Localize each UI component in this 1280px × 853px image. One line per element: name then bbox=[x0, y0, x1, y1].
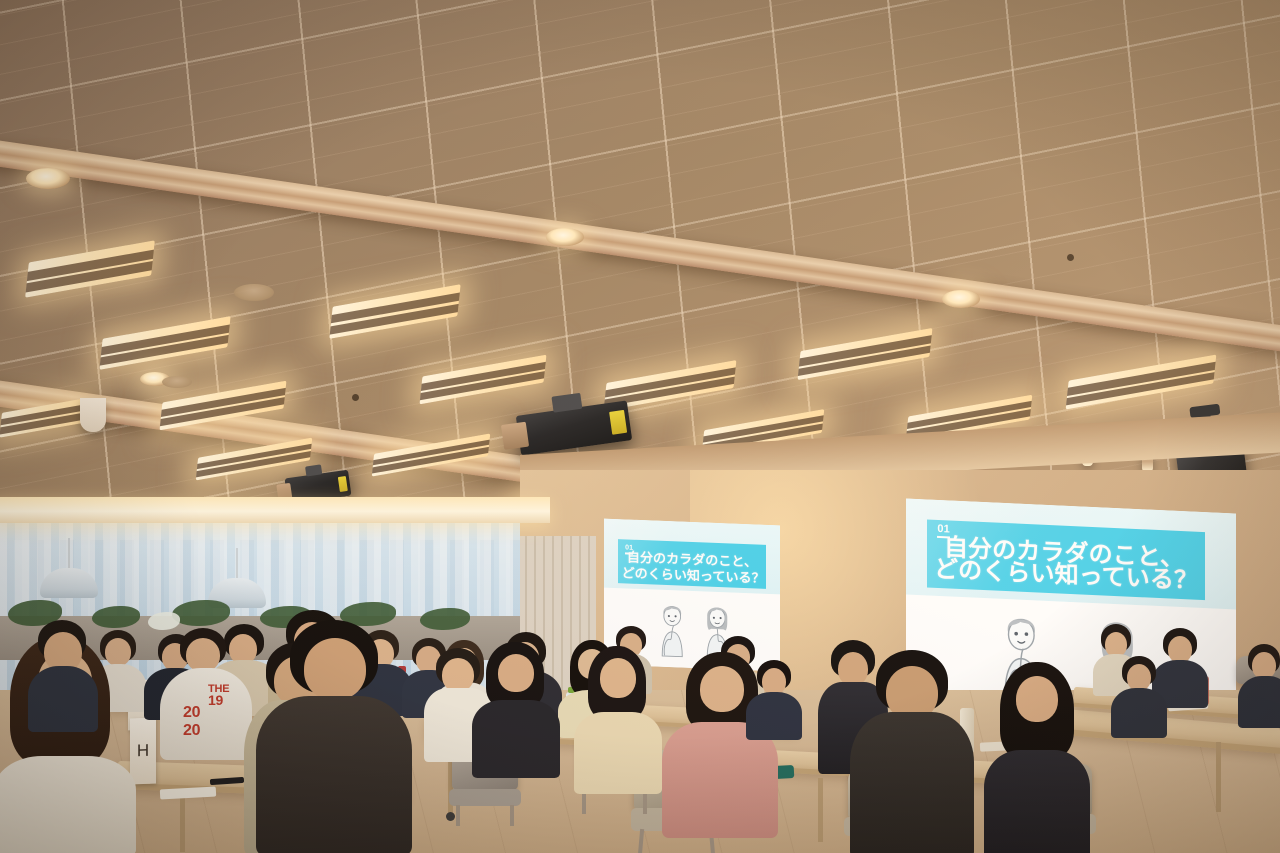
audience-member bbox=[988, 662, 1084, 853]
ceiling-vent bbox=[162, 376, 192, 388]
table-leg bbox=[818, 778, 823, 842]
audience-member bbox=[856, 650, 968, 853]
audience-member bbox=[256, 620, 412, 853]
audience-member bbox=[752, 660, 796, 736]
audience-member bbox=[478, 642, 552, 774]
slide-illustration-left-figure bbox=[652, 596, 692, 659]
audience-member bbox=[1158, 628, 1202, 704]
audience-member-graphic-tee bbox=[160, 628, 252, 758]
pendant-lamp bbox=[40, 568, 98, 598]
tee-text-line-2: 19 bbox=[208, 694, 223, 707]
ceiling-downlight bbox=[26, 168, 70, 189]
ceiling-downlight bbox=[546, 228, 584, 246]
seminar-room-photo: 01 自分のカラダのこと、 どのくらい知っている？ bbox=[0, 0, 1280, 853]
tee-text-line-3: 20 bbox=[183, 706, 200, 721]
audience-member bbox=[28, 620, 98, 730]
table-tent-card-h: H bbox=[130, 718, 156, 785]
ceiling-vent bbox=[234, 284, 274, 301]
audience-member bbox=[580, 646, 654, 788]
ceiling-downlight bbox=[942, 290, 980, 308]
ceiling-sprinkler bbox=[352, 394, 359, 401]
tee-text-line-4: 20 bbox=[183, 724, 200, 739]
ceiling-sprinkler bbox=[1067, 254, 1074, 261]
dome-camera-mount-icon bbox=[80, 398, 106, 432]
audience-member bbox=[1116, 656, 1162, 734]
table-leg bbox=[1216, 742, 1221, 812]
cove-light-strip bbox=[0, 497, 550, 523]
table-leg bbox=[180, 794, 185, 852]
audience-member bbox=[1244, 644, 1280, 724]
